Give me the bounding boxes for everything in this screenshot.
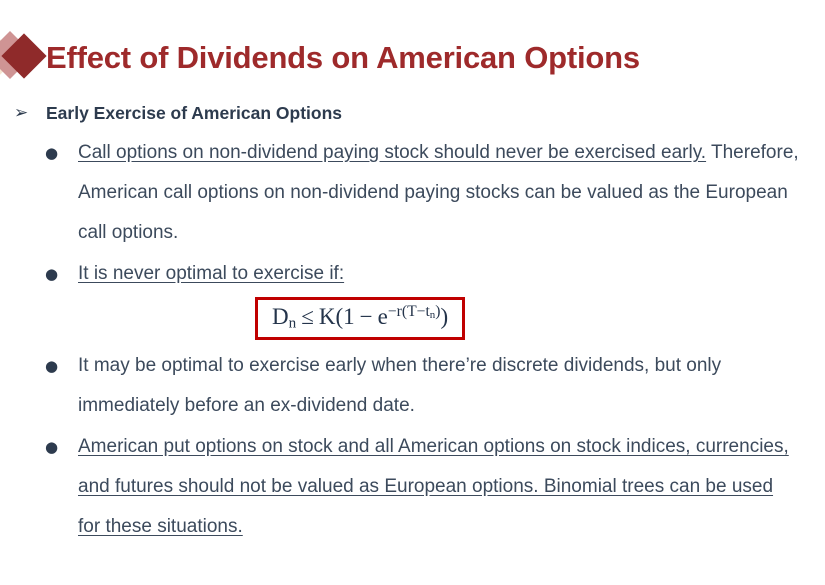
outline-level1-item: ➢ Early Exercise of American Options [0,100,825,126]
formula-K: K [319,304,336,329]
round-bullet-icon: ● [45,346,78,386]
list-item: ● It is never optimal to exercise if: [0,254,825,294]
diamond-logo-icon [0,29,40,85]
bullet-text-2: It is never optimal to exercise if: [78,254,344,294]
list-item: ● American put options on stock and all … [0,427,825,547]
formula-minus: − [355,304,378,329]
formula-relation: ≤ [296,304,319,329]
formula-D: D [272,304,289,329]
page-title: Effect of Dividends on American Options [46,42,640,73]
bullet-text-1: Call options on non-dividend paying stoc… [78,133,800,253]
formula-close-paren: ) [440,304,448,329]
formula-exp-T: T [407,303,417,320]
formula-one: 1 [343,304,355,329]
round-bullet-icon: ● [45,254,78,294]
outline-level1-label: Early Exercise of American Options [46,100,342,126]
bullet-4-underlined-text: American put options on stock and all Am… [78,436,789,537]
bullet-3-plain-text: It may be optimal to exercise early when… [78,355,721,416]
formula-exp-minus: − [388,303,397,320]
formula-row: Dn≤K(1−e−r(T−tn)) [0,297,825,340]
bullet-text-3: It may be optimal to exercise early when… [78,346,800,426]
formula-open-paren: ( [335,304,343,329]
formula-exponent: −r(T−tn) [388,303,441,320]
slide-body: ➢ Early Exercise of American Options ● C… [0,100,825,548]
list-item: ● It may be optimal to exercise early wh… [0,346,825,426]
bullet-1-underlined-text: Call options on non-dividend paying stoc… [78,142,706,163]
slide-title-row: Effect of Dividends on American Options [0,26,640,88]
formula-e: e [378,304,388,329]
arrowhead-bullet-icon: ➢ [14,100,46,126]
bullet-text-4: American put options on stock and all Am… [78,427,800,547]
round-bullet-icon: ● [45,427,78,467]
formula-box: Dn≤K(1−e−r(T−tn)) [255,297,465,340]
bullet-2-underlined-text: It is never optimal to exercise if: [78,263,344,284]
list-item: ● Call options on non-dividend paying st… [0,133,825,253]
slide: Effect of Dividends on American Options … [0,0,825,585]
round-bullet-icon: ● [45,133,78,173]
formula-expression: Dn≤K(1−e−r(T−tn)) [272,304,448,329]
